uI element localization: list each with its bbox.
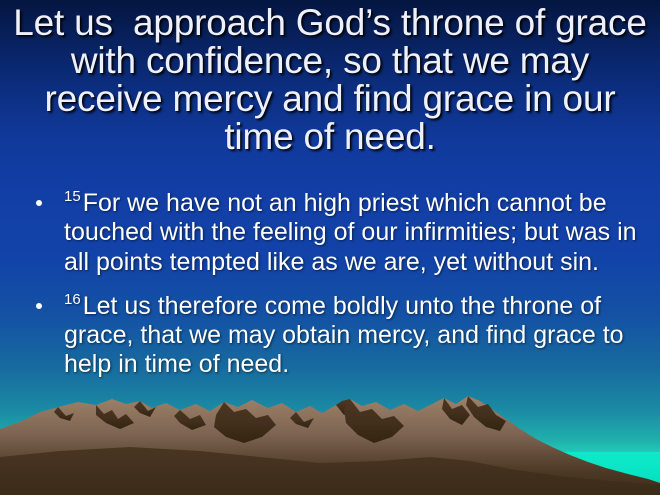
scripture-bullet-list: 15For we have not an high priest which c…	[28, 188, 638, 394]
presentation-slide: Let us approach God’s throne of grace wi…	[0, 0, 660, 495]
list-item: 16Let us therefore come boldly unto the …	[28, 291, 638, 380]
verse-number: 15	[64, 188, 81, 205]
slide-text-layer: Let us approach God’s throne of grace wi…	[0, 0, 660, 495]
bullet-dot-icon	[36, 200, 42, 206]
verse-text: For we have not an high priest which can…	[64, 189, 637, 276]
verse-number: 16	[64, 291, 81, 308]
list-item: 15For we have not an high priest which c…	[28, 188, 638, 277]
bullet-dot-icon	[36, 303, 42, 309]
slide-title: Let us approach God’s throne of grace wi…	[10, 4, 650, 156]
verse-text: Let us therefore come boldly unto the th…	[64, 292, 624, 379]
